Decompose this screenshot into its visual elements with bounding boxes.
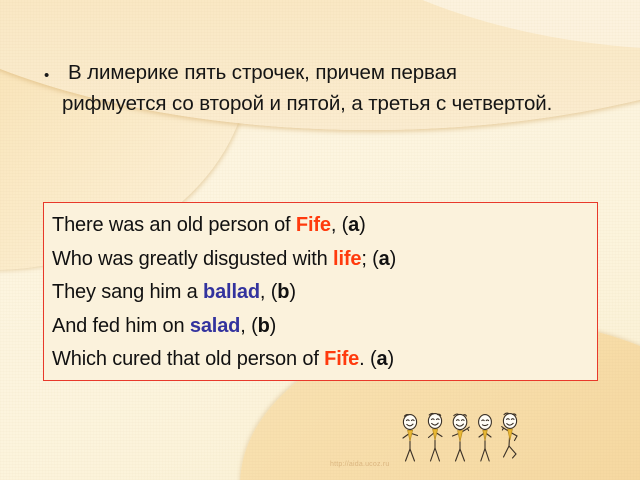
rhyme-scheme-tag: a xyxy=(376,348,387,370)
rhyme-word: Fife xyxy=(324,348,359,370)
bullet-paragraph-text: В лимерике пять строчек, причем первая р… xyxy=(62,57,564,119)
limerick-line-end: ) xyxy=(289,281,296,303)
stick-figure xyxy=(403,415,418,461)
rhyme-word: life xyxy=(333,248,361,270)
limerick-line-end: ) xyxy=(270,315,277,337)
limerick-line: And fed him on salad, (b) xyxy=(52,310,597,344)
limerick-line-prefix: There was an old person of xyxy=(52,214,296,236)
limerick-line-suffix: , ( xyxy=(240,315,257,337)
limerick-line-prefix: Which cured that old person of xyxy=(52,348,324,370)
limerick-line-suffix: , ( xyxy=(260,281,277,303)
rhyme-scheme-tag: a xyxy=(379,248,390,270)
stick-figure xyxy=(502,413,517,458)
limerick-line-prefix: They sang him a xyxy=(52,281,203,303)
rhyme-word: Fife xyxy=(296,214,331,236)
limerick-line-prefix: Who was greatly disgusted with xyxy=(52,248,333,270)
stick-figure xyxy=(428,413,442,461)
limerick-line: Who was greatly disgusted with life; (a) xyxy=(52,243,597,277)
stick-figures-svg xyxy=(396,411,526,471)
watermark-text: http://aida.ucoz.ru xyxy=(330,461,389,468)
slide-canvas: • В лимерике пять строчек, причем первая… xyxy=(0,0,640,480)
limerick-line-prefix: And fed him on xyxy=(52,315,190,337)
bullet-paragraph: • В лимерике пять строчек, причем первая… xyxy=(44,57,564,119)
limerick-line: Which cured that old person of Fife. (a) xyxy=(52,343,597,377)
limerick-line: They sang him a ballad, (b) xyxy=(52,276,597,310)
limerick-line-suffix: . ( xyxy=(359,348,376,370)
limerick-line-end: ) xyxy=(390,248,397,270)
limerick-line-suffix: , ( xyxy=(331,214,348,236)
bullet-marker-icon: • xyxy=(44,68,62,83)
stick-figures-illustration xyxy=(396,411,526,471)
stick-figure xyxy=(453,414,470,461)
rhyme-word: ballad xyxy=(203,281,260,303)
limerick-line-end: ) xyxy=(359,214,366,236)
stick-figure xyxy=(479,415,492,461)
rhyme-scheme-tag: b xyxy=(277,281,289,303)
limerick-line-end: ) xyxy=(387,348,394,370)
rhyme-scheme-tag: b xyxy=(258,315,270,337)
limerick-line-suffix: ; ( xyxy=(361,248,378,270)
limerick-box: There was an old person of Fife, (a) Who… xyxy=(43,202,598,381)
rhyme-scheme-tag: a xyxy=(348,214,359,236)
rhyme-word: salad xyxy=(190,315,240,337)
limerick-line: There was an old person of Fife, (a) xyxy=(52,209,597,243)
